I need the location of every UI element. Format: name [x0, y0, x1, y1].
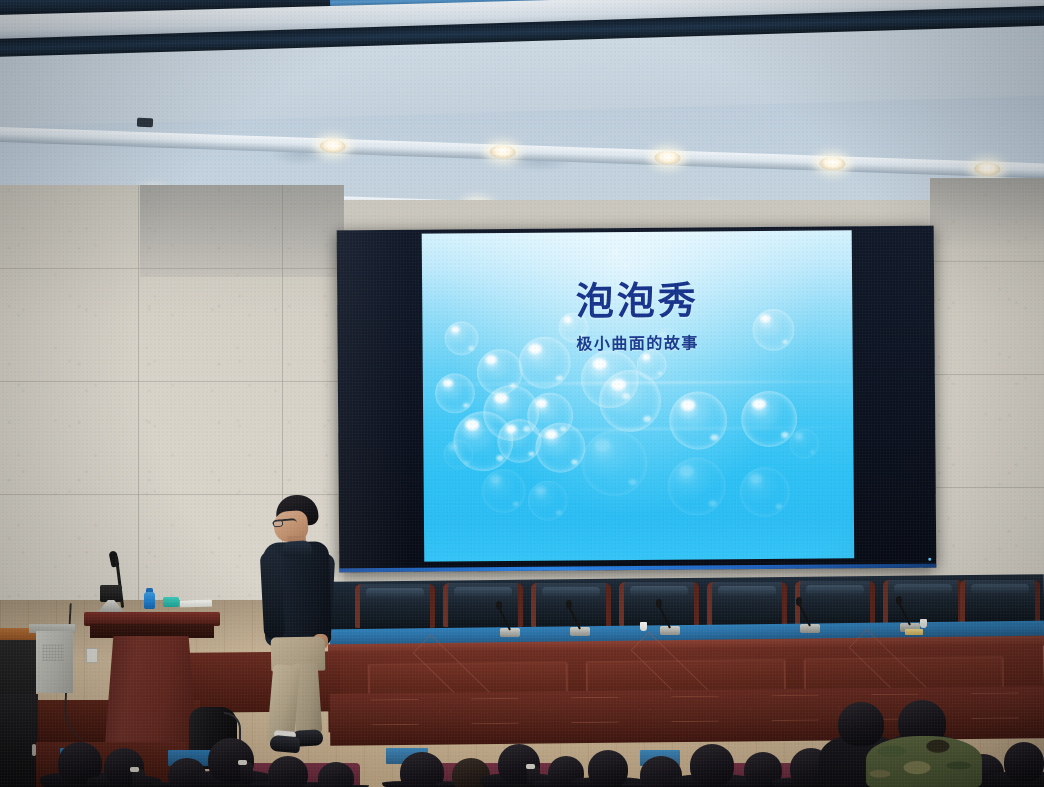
slide-subtitle: 极小曲面的故事 — [422, 328, 852, 355]
bubble-icon — [740, 467, 790, 517]
wall-power-socket[interactable] — [86, 648, 98, 663]
chair-highlight — [806, 585, 864, 595]
audience-camouflage-jacket — [866, 736, 982, 787]
teal-object[interactable] — [163, 597, 179, 607]
presenter-collar — [282, 540, 313, 557]
bubble-icon — [482, 469, 526, 513]
desk-microphone-capsule — [656, 599, 662, 608]
bench-diamond-motif — [550, 696, 640, 723]
podium-apron — [90, 624, 214, 638]
conference-chair[interactable] — [443, 583, 523, 627]
desk-cup[interactable] — [640, 622, 647, 631]
bubble-icon — [528, 481, 568, 521]
slide-title: 泡泡秀 — [422, 268, 852, 326]
chair-highlight — [366, 588, 424, 598]
ceiling-speaker-icon — [137, 118, 153, 128]
equipment-cabinet — [36, 631, 73, 693]
audience-head — [268, 756, 308, 787]
bubble-icon — [637, 350, 667, 380]
water-bottle[interactable] — [144, 592, 155, 609]
cabinet-vent-grille — [42, 644, 64, 661]
desk-microphone-capsule — [896, 596, 902, 605]
hair-clip-icon — [238, 760, 247, 765]
presentation-slide[interactable]: 泡泡秀 极小曲面的故事 — [422, 230, 855, 561]
bench-diamond-motif — [950, 692, 1040, 719]
chair-highlight — [630, 586, 688, 596]
conference-chair[interactable] — [707, 582, 787, 626]
eyeglass-lens — [273, 520, 284, 528]
bubble-icon — [608, 246, 632, 270]
chair-highlight — [718, 586, 776, 596]
bubble-icon — [443, 439, 473, 469]
bubble-icon — [789, 429, 819, 459]
bubble-icon — [581, 430, 648, 497]
paper-sheet[interactable] — [180, 600, 212, 608]
wall-step-shadow — [140, 185, 344, 277]
desk-nameplate — [905, 629, 923, 635]
chair-highlight — [454, 587, 512, 597]
bench-diamond-motif — [450, 698, 540, 725]
chair-highlight — [971, 584, 1029, 594]
lecture-hall-photo: 泡泡秀 极小曲面的故事 — [0, 0, 1044, 787]
audience-head — [838, 702, 884, 746]
led-display-screen[interactable]: 泡泡秀 极小曲面的故事 — [337, 226, 937, 573]
desk-microphone-capsule — [566, 600, 572, 609]
bubble-icon — [669, 391, 727, 449]
conference-chair[interactable] — [960, 580, 1040, 624]
hair-clip-icon — [526, 764, 535, 769]
audience-ponytail — [240, 762, 253, 784]
audience-head — [1004, 742, 1044, 782]
bubble-icon — [535, 422, 585, 472]
desk-cup[interactable] — [920, 619, 927, 628]
screen-status-pixel — [928, 558, 931, 561]
bench-diamond-motif — [350, 699, 440, 726]
podium-microphone-body[interactable] — [100, 585, 122, 602]
chair-highlight — [542, 587, 600, 597]
conference-chair[interactable] — [883, 580, 963, 624]
bubble-icon — [435, 373, 475, 413]
bubble-icon — [497, 419, 541, 463]
hair-clip-icon — [130, 767, 139, 772]
audience-head — [690, 744, 734, 786]
audience-head — [588, 750, 628, 787]
bubble-icon — [667, 457, 725, 515]
desk-microphone-capsule — [796, 597, 802, 606]
audience-head — [318, 762, 354, 787]
conference-chair[interactable] — [355, 584, 435, 628]
chair-highlight — [894, 584, 952, 594]
bench-diamond-motif — [650, 695, 740, 722]
wall-shadow-right — [930, 178, 1044, 250]
desk-microphone-capsule — [496, 601, 502, 610]
bench-diamond-motif — [750, 694, 840, 721]
